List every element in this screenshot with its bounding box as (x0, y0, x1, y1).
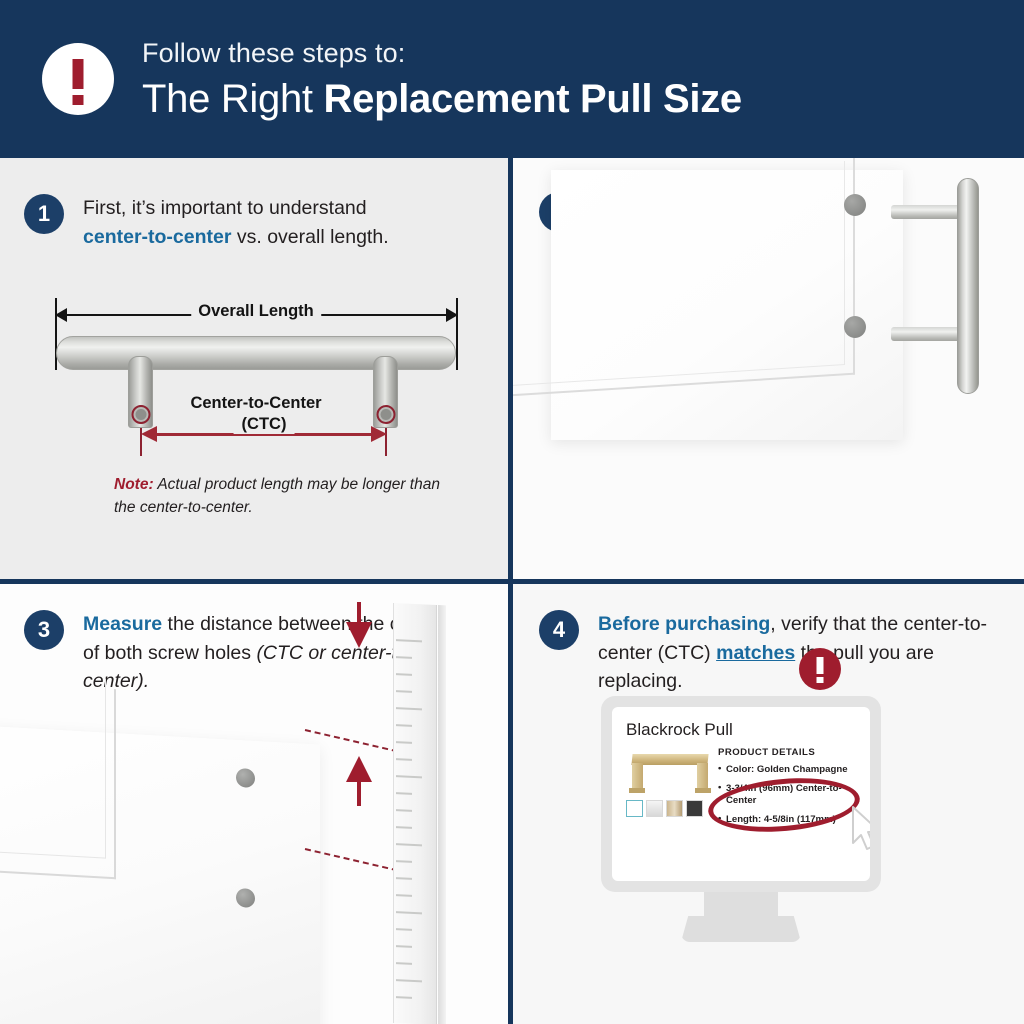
product-media (626, 747, 714, 833)
step-4-text: Before purchasing, verify that the cente… (598, 610, 989, 696)
product-pull-foot-right (695, 788, 711, 793)
note-text: Actual product length may be longer than… (114, 476, 440, 516)
monitor-illustration: Blackrock Pull (601, 696, 881, 944)
ctc-arrow-right-icon (371, 426, 387, 442)
screw-hole-top (844, 194, 866, 216)
ctc-dimension: (CTC) (141, 426, 387, 442)
ruler-tick (396, 673, 412, 676)
ruler-tick (396, 962, 412, 965)
pull-measurement-diagram: Overall Length Center-to-Center (CTC) (46, 298, 466, 458)
product-body: PRODUCT DETAILS Color: Golden Champagne … (626, 747, 856, 833)
ruler-tick (396, 860, 412, 863)
step-4-highlight: Before purchasing (598, 613, 770, 635)
product-detail-ctc: 3-3/4in (96mm) Center-to-Center (718, 783, 856, 808)
ruler-tick (396, 656, 412, 659)
measure-arrow-top-stem (357, 602, 361, 624)
product-title: Blackrock Pull (626, 720, 856, 740)
step-1-line1: First, it’s important to understand (83, 197, 367, 219)
step-1-line2: vs. overall length. (231, 226, 388, 248)
page-title-plain: The Right (142, 77, 324, 121)
ruler-tick (396, 775, 422, 778)
step-panel-3: 3 Measure the distance between the cente… (0, 584, 508, 1024)
header-text-block: Follow these steps to: The Right Replace… (142, 40, 742, 119)
product-pull-leg-left (632, 763, 643, 789)
measure-arrow-bottom-stem (357, 782, 361, 806)
exclamation-bar (73, 59, 84, 89)
ruler-tick (396, 724, 412, 727)
ruler-tick (396, 809, 412, 812)
door-panel-frame-inner (513, 161, 845, 391)
ctc-abbrev-label: (CTC) (234, 415, 295, 434)
step-4-heading: 4 Before purchasing, verify that the cen… (539, 610, 989, 696)
step-panel-4: 4 Before purchasing, verify that the cen… (513, 584, 1024, 1024)
step-3-badge: 3 (24, 610, 64, 650)
pull-stem-top (891, 205, 965, 219)
screw-hole-bottom (844, 316, 866, 338)
step-3-highlight: Measure (83, 613, 162, 635)
overall-length-dimension: Overall Length (46, 298, 466, 332)
ruler-tick (396, 894, 412, 897)
thumbnail-knob[interactable] (646, 800, 663, 817)
measure-arrow-up-icon (346, 756, 372, 782)
measure-screw-hole-top (236, 768, 255, 788)
pull-post-left (128, 356, 153, 428)
pull-post-right (373, 356, 398, 428)
ruler-tick (396, 911, 422, 914)
product-pull-leg-right (697, 763, 708, 789)
matches-link[interactable]: matches (716, 642, 795, 664)
product-detail-length: Length: 4-5/8in (117mm) (718, 814, 856, 827)
thumbnail-cabinet[interactable] (666, 800, 683, 817)
thumbnail-dark-pull[interactable] (686, 800, 703, 817)
monitor-neck (704, 892, 778, 918)
ruler-tick (396, 826, 412, 829)
product-detail-color: Color: Golden Champagne (718, 764, 856, 777)
screw-ring-right (376, 405, 395, 424)
screw-ring-left (131, 405, 150, 424)
step-1-badge: 1 (24, 194, 64, 234)
ruler-tick (396, 758, 412, 761)
exclamation-circle-icon (42, 43, 114, 115)
alert-dot (817, 677, 824, 683)
monitor-bezel: Blackrock Pull (601, 696, 881, 892)
steps-grid: 1 First, it’s important to understand ce… (0, 158, 1024, 1024)
infographic-page: Follow these steps to: The Right Replace… (0, 0, 1024, 1024)
ruler-tick (396, 792, 412, 795)
step-panel-1: 1 First, it’s important to understand ce… (0, 158, 508, 579)
measure-arrow-down-icon (346, 622, 372, 648)
ruler-tick (396, 877, 412, 880)
product-image (628, 751, 712, 793)
diagram-note: Note: Actual product length may be longe… (114, 473, 444, 520)
product-details: PRODUCT DETAILS Color: Golden Champagne … (714, 747, 856, 833)
page-title: The Right Replacement Pull Size (142, 79, 742, 119)
ctc-label: Center-to-Center (190, 394, 321, 413)
ruler-tick (396, 639, 422, 642)
ruler-tick (396, 979, 422, 982)
note-label: Note: (114, 476, 154, 493)
product-thumbnail-strip (626, 800, 714, 817)
arrow-left-icon (55, 308, 67, 322)
header-kicker: Follow these steps to: (142, 40, 742, 67)
overall-length-label: Overall Length (191, 302, 321, 321)
step-1-text: First, it’s important to understand cent… (83, 194, 389, 251)
pull-stem-bottom (891, 327, 965, 341)
ruler-edge-shadow (438, 605, 446, 1024)
ruler-tick (396, 741, 412, 744)
measure-screw-hole-bottom (236, 888, 255, 908)
step-panel-2: 2 If you are replacing a pull, start by … (513, 158, 1024, 579)
arrow-right-icon (446, 308, 458, 322)
ruler-tick (396, 843, 422, 846)
thumbnail-pull-selected[interactable] (626, 800, 643, 817)
product-details-heading: PRODUCT DETAILS (718, 747, 856, 758)
ruler-tick (396, 707, 422, 710)
ruler-tick (396, 996, 412, 999)
cabinet-door-illustration (551, 170, 903, 440)
monitor-screen: Blackrock Pull (612, 707, 870, 881)
step-1-heading: 1 First, it’s important to understand ce… (24, 194, 444, 251)
bar-pull-graphic (957, 178, 979, 394)
monitor-base (681, 916, 801, 942)
step-4-badge: 4 (539, 610, 579, 650)
product-pull-foot-left (629, 788, 645, 793)
exclamation-dot (73, 95, 84, 105)
door-frame-inner (0, 667, 106, 859)
ruler-tick (396, 945, 412, 948)
cabinet-door-measure-illustration (0, 723, 320, 1024)
alert-bar (817, 657, 824, 674)
ruler-tick (396, 928, 412, 931)
ruler-graphic (393, 603, 437, 1024)
page-title-bold: Replacement Pull Size (324, 77, 742, 121)
ctc-arrow-left-icon (141, 426, 157, 442)
page-header: Follow these steps to: The Right Replace… (0, 0, 1024, 158)
ruler-tick (396, 690, 412, 693)
step-1-highlight: center-to-center (83, 226, 231, 248)
alert-exclamation-icon (799, 648, 841, 690)
